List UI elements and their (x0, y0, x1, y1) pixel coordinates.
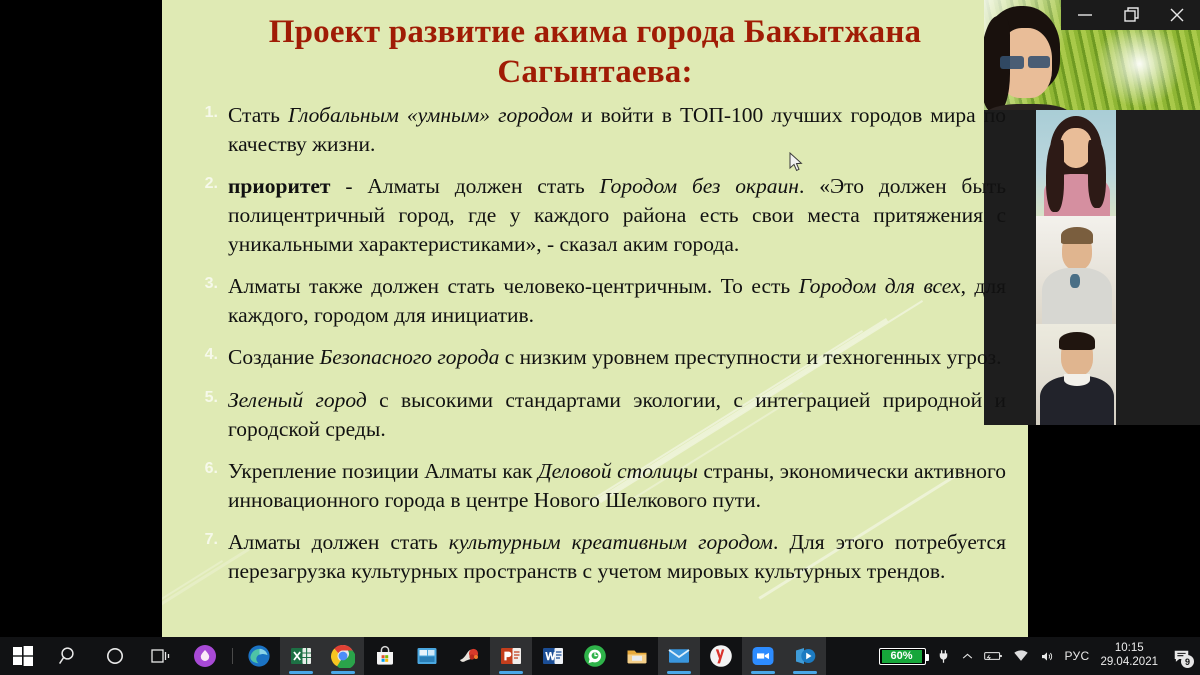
slide-bullet-number: 3. (192, 273, 218, 295)
slide-bullet-item: 5.Зеленый город с высокими стандартами э… (184, 386, 1006, 444)
taskbar-separator (226, 637, 238, 675)
slide-bullet-text: Создание Безопасного города с низким уро… (228, 345, 1002, 369)
slide-bullet-item: 3.Алматы также должен стать человеко-цен… (184, 272, 1006, 330)
power-plug-icon[interactable] (931, 637, 956, 675)
slide-bullet-number: 6. (192, 458, 218, 480)
language-indicator[interactable]: РУС (1060, 637, 1095, 675)
wifi-icon[interactable] (1008, 637, 1034, 675)
close-button[interactable] (1154, 0, 1200, 30)
slide-bullet-item: 6.Укрепление позиции Алматы как Деловой … (184, 457, 1006, 515)
active-indicator (499, 671, 523, 674)
slide-bullet-number: 5. (192, 387, 218, 409)
system-tray: 60% (874, 637, 1200, 675)
active-indicator (289, 671, 313, 674)
slide-bullet-number: 1. (192, 102, 218, 124)
taskbar-app-yandex-browser[interactable] (700, 637, 742, 675)
slide-bullet-text: Алматы также должен стать человеко-центр… (228, 274, 1006, 327)
taskbar-app-file-explorer[interactable] (616, 637, 658, 675)
battery-icon[interactable] (979, 637, 1008, 675)
window-controls (1061, 0, 1200, 30)
taskbar-app-photos[interactable] (406, 637, 448, 675)
slide-bullet-text: Алматы должен стать культурным креативны… (228, 530, 1006, 583)
action-center-icon[interactable]: 9 (1164, 637, 1198, 675)
restore-button[interactable] (1108, 0, 1154, 30)
slide-bullet-number: 7. (192, 529, 218, 551)
task-view-button[interactable] (138, 637, 184, 675)
taskbar-app-zoom[interactable] (742, 637, 784, 675)
slide-bullet-number: 2. (192, 173, 218, 195)
mouse-cursor (789, 152, 803, 172)
slide-bullet-item: 4.Создание Безопасного города с низким у… (184, 343, 1006, 372)
slide-bullet-number: 4. (192, 344, 218, 366)
start-button[interactable] (0, 637, 46, 675)
slide-bullet-list: 1.Стать Глобальным «умным» городом и вой… (184, 101, 1006, 587)
taskbar-app-microsoft-store[interactable] (364, 637, 406, 675)
slide-bullet-text: Зеленый город с высокими стандартами эко… (228, 388, 1006, 441)
slide-bullet-text: приоритет - Алматы должен стать Городом … (228, 174, 1006, 256)
taskbar-app-chrome[interactable] (322, 637, 364, 675)
battery-percent-label: 60% (882, 650, 922, 663)
active-indicator (667, 671, 691, 674)
slide-bullet-item: 7.Алматы должен стать культурным креатив… (184, 528, 1006, 586)
volume-icon[interactable] (1034, 637, 1060, 675)
notification-badge: 9 (1181, 655, 1194, 668)
windows-taskbar[interactable]: 60% (0, 637, 1200, 675)
search-button[interactable] (46, 637, 92, 675)
taskbar-app-powerpoint[interactable] (490, 637, 532, 675)
chevron-up-icon[interactable] (956, 637, 979, 675)
taskbar-app-media-player[interactable] (784, 637, 826, 675)
slide-bullet-text: Укрепление позиции Алматы как Деловой ст… (228, 459, 1006, 512)
taskbar-app-ccleaner[interactable] (448, 637, 490, 675)
taskbar-app-alisa[interactable] (184, 637, 226, 675)
slide-bullet-item: 2.приоритет - Алматы должен стать Городо… (184, 172, 1006, 259)
participant-video-tile-2[interactable] (1036, 216, 1116, 324)
participant-video-tile-1[interactable] (1036, 110, 1116, 216)
battery-percent-indicator[interactable]: 60% (874, 637, 931, 675)
clock-time: 10:15 (1115, 642, 1144, 656)
screen: Проект развитие акима города Бакытжана С… (0, 0, 1200, 675)
slide-bullet-item: 1.Стать Глобальным «умным» городом и вой… (184, 101, 1006, 159)
taskbar-app-mail[interactable] (658, 637, 700, 675)
active-indicator (751, 671, 775, 674)
taskbar-app-word[interactable] (532, 637, 574, 675)
taskbar-app-edge[interactable] (238, 637, 280, 675)
cortana-button[interactable] (92, 637, 138, 675)
clock-date: 29.04.2021 (1100, 656, 1158, 670)
taskbar-app-excel[interactable] (280, 637, 322, 675)
participant-video-tile-3[interactable] (1036, 324, 1116, 425)
presentation-slide[interactable]: Проект развитие акима города Бакытжана С… (162, 0, 1028, 637)
active-indicator (331, 671, 355, 674)
slide-bullet-text: Стать Глобальным «умным» городом и войти… (228, 103, 1006, 156)
slide-title: Проект развитие акима города Бакытжана С… (184, 8, 1006, 95)
taskbar-app-whatsapp[interactable] (574, 637, 616, 675)
active-indicator (793, 671, 817, 674)
minimize-button[interactable] (1062, 0, 1108, 30)
clock[interactable]: 10:15 29.04.2021 (1094, 642, 1164, 670)
